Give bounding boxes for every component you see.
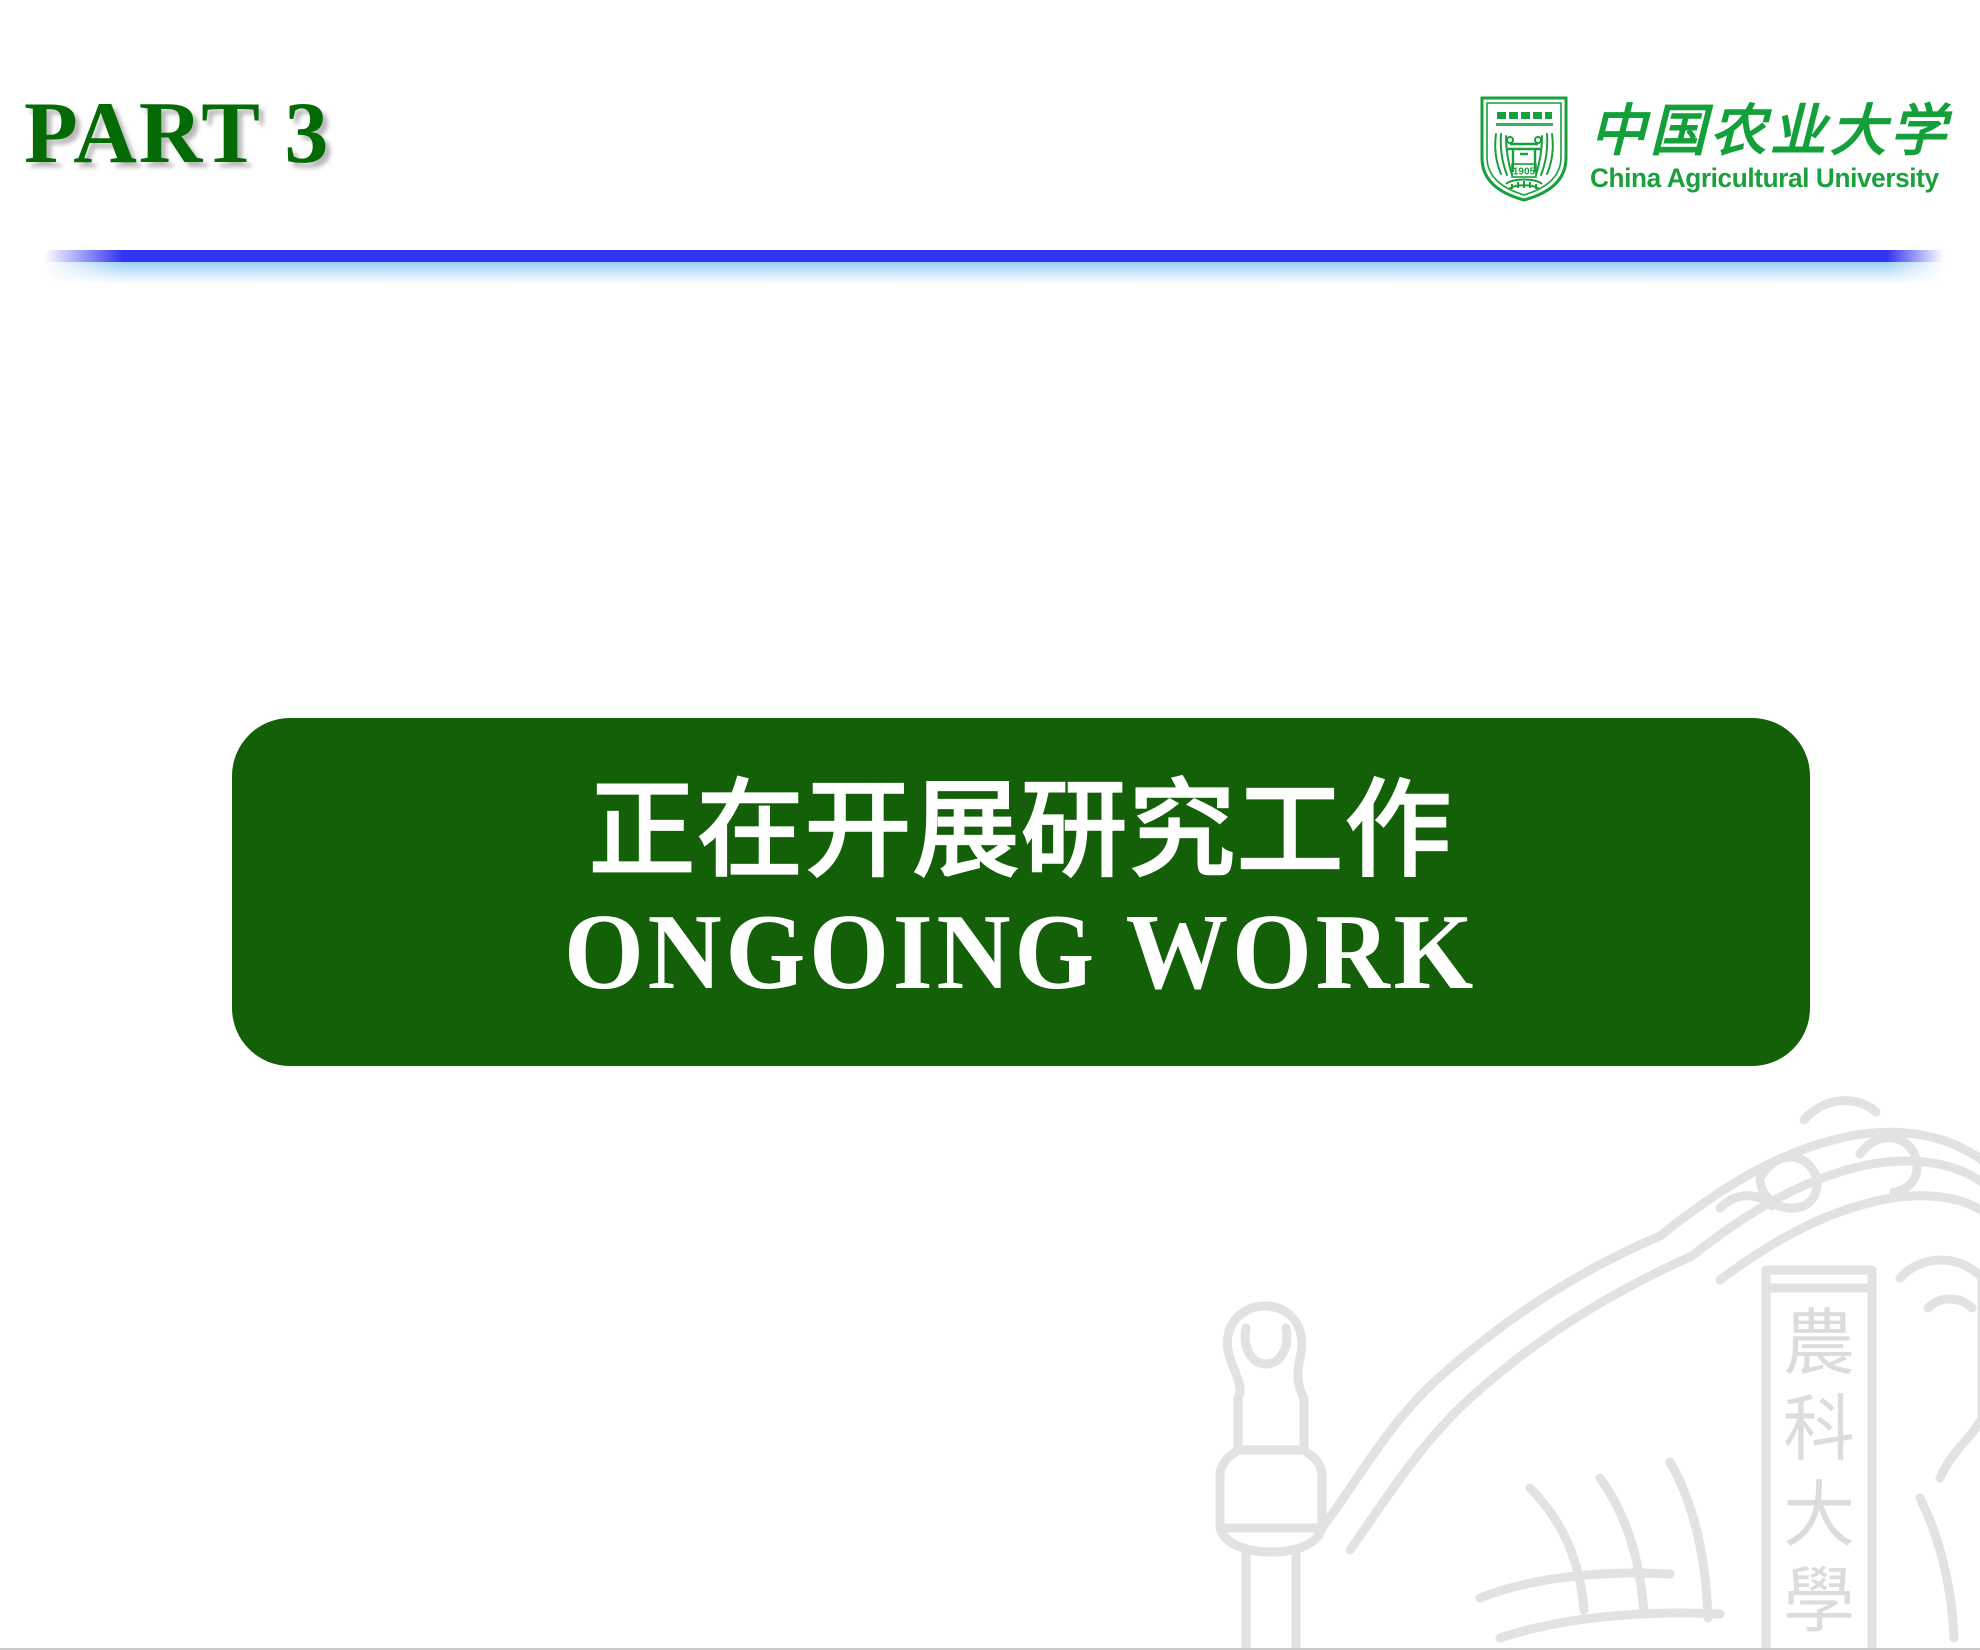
- callout-title-en: ONGOING WORK: [564, 895, 1477, 1012]
- slide-canvas: PART 3: [0, 0, 1980, 1650]
- watermark-plaque-char-3: 大: [1783, 1476, 1855, 1556]
- callout-title-cn: 正在开展研究工作: [589, 772, 1453, 891]
- university-shield-icon: 1905: [1476, 92, 1572, 204]
- watermark-plaque-char-1: 農: [1783, 1304, 1855, 1384]
- header-divider: [35, 250, 1945, 290]
- divider-bar: [35, 250, 1945, 262]
- svg-text:1905: 1905: [1513, 167, 1536, 178]
- university-name-en: China Agricultural University: [1590, 164, 1939, 192]
- university-name-cn: 中国农业大学: [1590, 104, 1950, 161]
- watermark-plaque-char-2: 科: [1783, 1390, 1855, 1470]
- divider-glow: [35, 262, 1945, 284]
- university-logo: 1905 中国农业大学 China Agricultural Universit…: [1476, 92, 1950, 204]
- gate-watermark-icon: 農 科 大 學: [1060, 1058, 1980, 1650]
- university-wordmark: 中国农业大学 China Agricultural University: [1590, 104, 1950, 192]
- section-callout-box: 正在开展研究工作 ONGOING WORK: [232, 718, 1810, 1066]
- page-title: PART 3: [24, 90, 330, 178]
- watermark-plaque-char-4: 學: [1783, 1562, 1855, 1642]
